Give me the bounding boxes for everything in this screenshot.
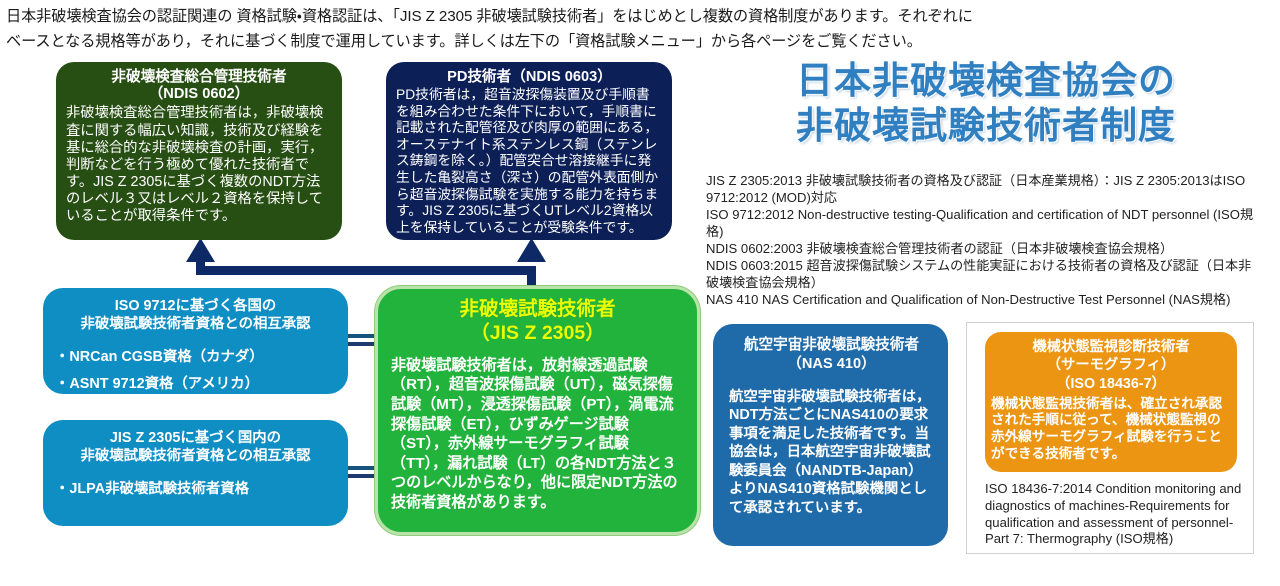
node-ndis-0602[interactable]: 非破壊検査総合管理技術者（NDIS 0602） 非破壊検査総合管理技術者は，非破… <box>56 62 342 240</box>
node-ndis-0603-title: PD技術者（NDIS 0603） <box>396 69 663 86</box>
standard-line: NDIS 0603:2015 超音波探傷試験システムの性能実証における技術者の資… <box>706 257 1254 291</box>
page-title-line-2: 非破壊試験技術者制度 <box>706 103 1266 148</box>
thermography-standard-caption: ISO 18436-7:2014 Condition monitoring an… <box>985 481 1243 548</box>
connector-line-lower <box>347 474 377 478</box>
node-jis-z-2305[interactable]: 非破壊試験技術者（JIS Z 2305） 非破壊試験技術者は，放射線透過試験（R… <box>375 286 700 535</box>
list-item: ・JLPA非破壊試験技術者資格 <box>55 476 336 503</box>
panel-thermography: 機械状態監視診断技術者（サーモグラフィ）（ISO 18436-7） 機械状態監視… <box>966 322 1254 554</box>
list-item: ・ASNT 9712資格（アメリカ） <box>55 371 336 394</box>
node-thermography-title: 機械状態監視診断技術者（サーモグラフィ）（ISO 18436-7） <box>991 338 1231 393</box>
node-nas-410-title: 航空宇宙非破壊試験技術者（NAS 410） <box>729 336 934 374</box>
standard-line: JIS Z 2305:2013 非破壊試験技術者の資格及び認証（日本産業規格）：… <box>706 172 1254 206</box>
connector-line-upper <box>347 334 377 338</box>
node-jis-domestic-items: ・JLPA非破壊試験技術者資格 <box>55 476 336 503</box>
node-iso-9712-title: ISO 9712に基づく各国の非破壊試験技術者資格との相互承認 <box>55 297 336 333</box>
node-ndis-0602-title: 非破壊検査総合管理技術者（NDIS 0602） <box>66 69 332 103</box>
standards-reference-list: JIS Z 2305:2013 非破壊試験技術者の資格及び認証（日本産業規格）：… <box>706 172 1254 308</box>
list-item: ・NRCan CGSB資格（カナダ） <box>55 344 336 371</box>
node-nas-410[interactable]: 航空宇宙非破壊試験技術者（NAS 410） 航空宇宙非破壊試験技術者は，NDT方… <box>713 324 948 546</box>
page-title: 日本非破壊検査協会の 非破壊試験技術者制度 <box>706 58 1266 148</box>
intro-line-2: ベースとなる規格等があり，それに基づく制度で運用しています。詳しくは左下の「資格… <box>6 33 922 50</box>
node-ndis-0602-body: 非破壊検査総合管理技術者は，非破壊検査に関する幅広い知識，技術及び経験を基に総合… <box>66 105 332 225</box>
standard-line: ISO 9712:2012 Non-destructive testing-Qu… <box>706 206 1254 240</box>
connector-line-lower <box>347 342 377 346</box>
node-iso-9712-items: ・NRCan CGSB資格（カナダ） ・ASNT 9712資格（アメリカ） <box>55 344 336 394</box>
node-thermography[interactable]: 機械状態監視診断技術者（サーモグラフィ）（ISO 18436-7） 機械状態監視… <box>985 332 1237 472</box>
intro-paragraph: 日本非破壊検査協会の認証関連の 資格試験・資格認証は、「JIS Z 2305 非… <box>6 4 1274 54</box>
node-ndis-0603-body: PD技術者は，超音波探傷装置及び手順書を組み合わせた条件下において，手順書に記載… <box>396 87 663 236</box>
node-nas-410-body: 航空宇宙非破壊試験技術者は，NDT方法ごとにNAS410の要求事項を満足した技術… <box>729 388 934 517</box>
diagram-canvas: 日本非破壊検査協会の認証関連の 資格試験・資格認証は、「JIS Z 2305 非… <box>0 0 1280 586</box>
node-jis-domestic[interactable]: JIS Z 2305に基づく国内の非破壊試験技術者資格との相互承認 ・JLPA非… <box>43 420 348 526</box>
node-iso-9712[interactable]: ISO 9712に基づく各国の非破壊試験技術者資格との相互承認 ・NRCan C… <box>43 288 348 394</box>
node-jis-z-2305-title: 非破壊試験技術者（JIS Z 2305） <box>391 297 684 346</box>
intro-line-1: 日本非破壊検査協会の認証関連の 資格試験・資格認証は、「JIS Z 2305 非… <box>6 8 973 25</box>
connector-equals-top <box>347 334 377 347</box>
node-thermography-body: 機械状態監視技術者は、確立され承認された手順に従って、機械状態監視の赤外線サーモ… <box>991 396 1231 462</box>
node-ndis-0603[interactable]: PD技術者（NDIS 0603） PD技術者は，超音波探傷装置及び手順書を組み合… <box>386 62 672 240</box>
node-jis-z-2305-body: 非破壊試験技術者は，放射線透過試験（RT），超音波探傷試験（UT），磁気探傷試験… <box>391 356 684 513</box>
node-jis-domestic-title: JIS Z 2305に基づく国内の非破壊試験技術者資格との相互承認 <box>55 429 336 465</box>
standard-line: NDIS 0602:2003 非破壊検査総合管理技術者の認証（日本非破壊検査協会… <box>706 240 1254 257</box>
connector-line-upper <box>347 466 377 470</box>
page-title-line-1: 日本非破壊検査協会の <box>706 58 1266 103</box>
connector-equals-bottom <box>347 466 377 479</box>
standard-line: NAS 410 NAS Certification and Qualificat… <box>706 291 1254 308</box>
